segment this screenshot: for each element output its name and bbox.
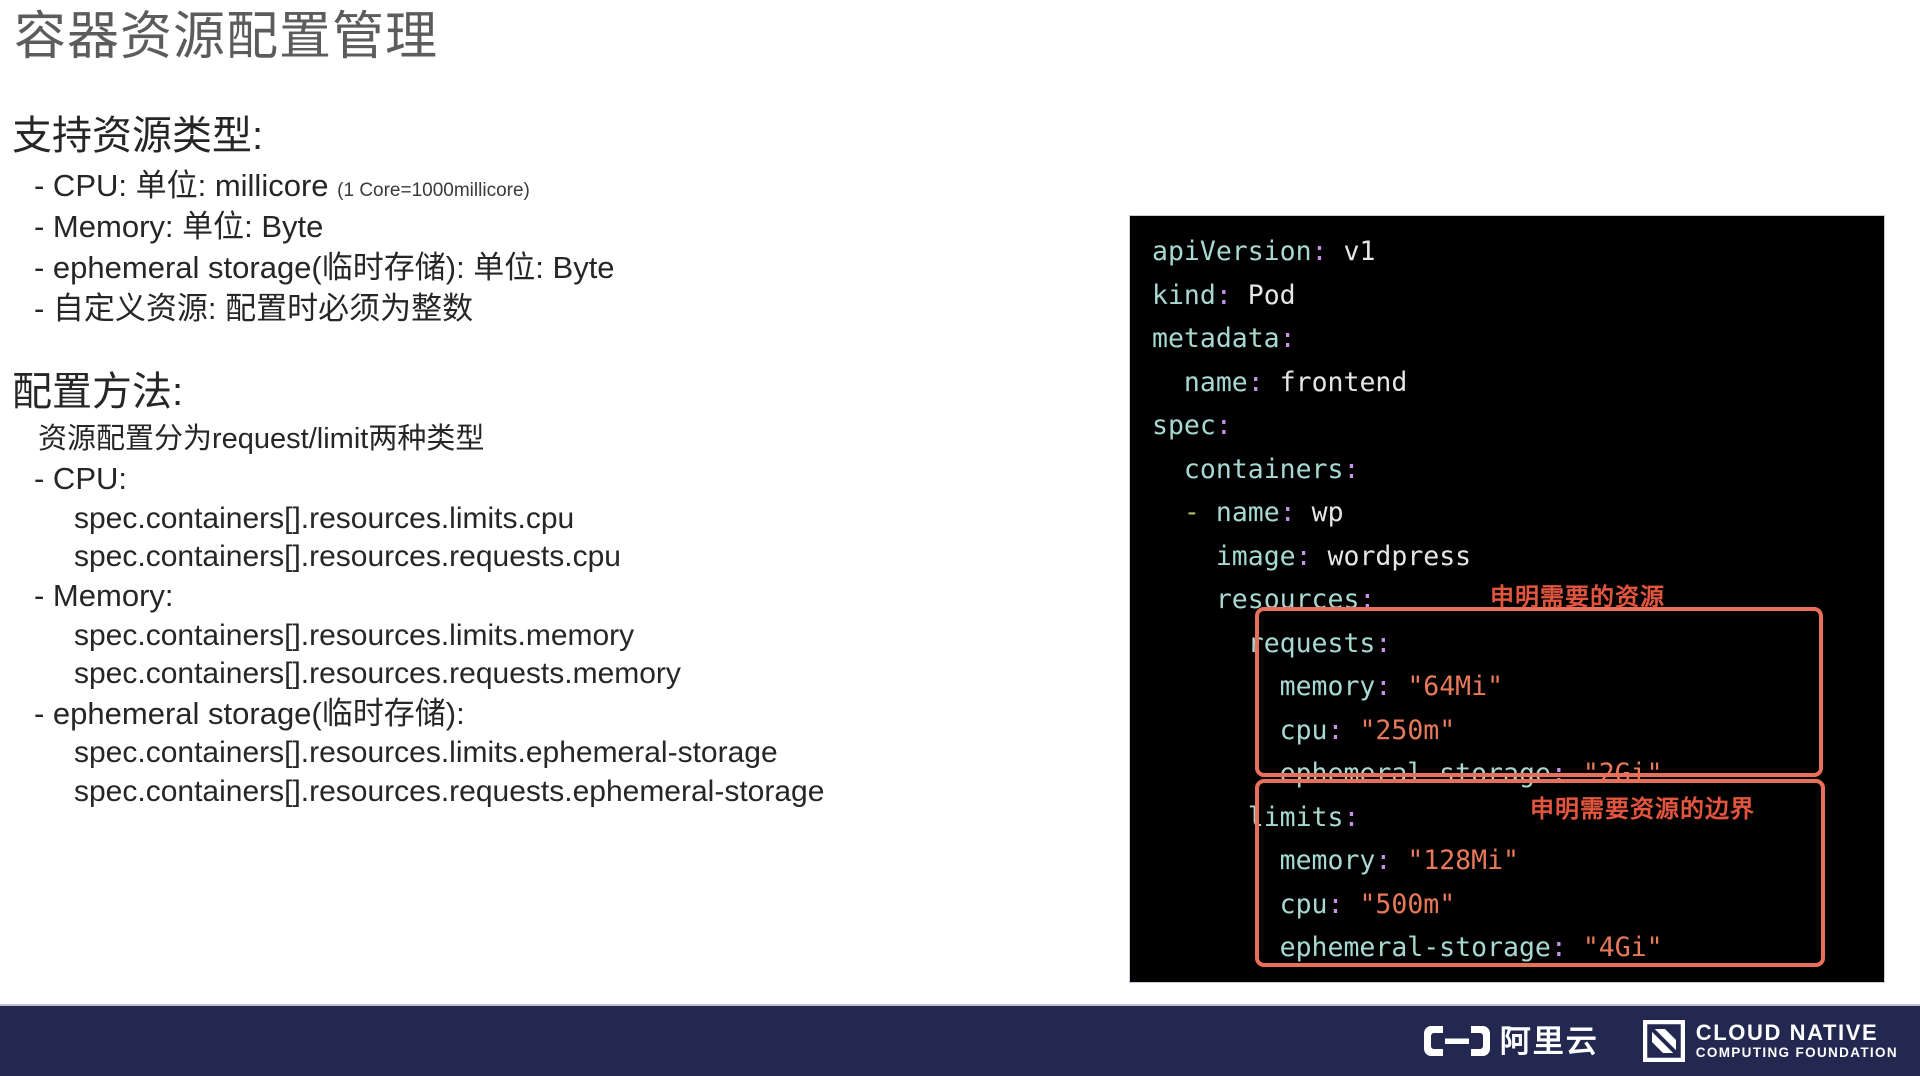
yaml-line: cpu: "500m" [1152, 883, 1663, 927]
bullet-ephemeral-unit-text: - ephemeral storage(临时存储): 单位: Byte [34, 250, 615, 285]
footer-logo-group: 阿里云 CLOUD NATIVE COMPUTING FOUNDATION [1423, 1006, 1898, 1076]
cncf-mark-icon [1643, 1020, 1685, 1062]
yaml-line: containers: [1152, 448, 1663, 492]
section-heading-config-method: 配置方法: [12, 368, 1102, 417]
yaml-line: requests: [1152, 622, 1663, 666]
yaml-line: memory: "128Mi" [1152, 839, 1663, 883]
section-heading-resource-types: 支持资源类型: [12, 112, 1102, 161]
config-path-cpu-limits: spec.containers[].resources.limits.cpu [12, 500, 1102, 538]
footer-bar: 阿里云 CLOUD NATIVE COMPUTING FOUNDATION [0, 1004, 1920, 1076]
yaml-line: name: frontend [1152, 361, 1663, 405]
yaml-line: memory: "64Mi" [1152, 665, 1663, 709]
yaml-line: image: wordpress [1152, 535, 1663, 579]
config-path-memory-requests: spec.containers[].resources.requests.mem… [12, 655, 1102, 693]
yaml-line: ephemeral-storage: "4Gi" [1152, 926, 1663, 970]
yaml-line: kind: Pod [1152, 274, 1663, 318]
alibaba-cloud-logo: 阿里云 [1423, 1024, 1599, 1058]
config-group-label-memory: - Memory: [12, 576, 1102, 617]
page-title: 容器资源配置管理 [14, 8, 438, 68]
config-path-cpu-requests: spec.containers[].resources.requests.cpu [12, 538, 1102, 576]
bullet-cpu-unit-note: (1 Core=1000millicore) [337, 180, 530, 201]
config-path-memory-limits: spec.containers[].resources.limits.memor… [12, 617, 1102, 655]
config-group-label-ephemeral: - ephemeral storage(临时存储): [12, 694, 1102, 735]
yaml-line: apiVersion: v1 [1152, 230, 1663, 274]
bullet-ephemeral-unit: - ephemeral storage(临时存储): 单位: Byte [12, 247, 1102, 288]
bullet-cpu-unit-text: - CPU: 单位: millicore [34, 168, 329, 203]
bullet-cpu-unit: - CPU: 单位: millicore (1 Core=1000millico… [12, 165, 1102, 206]
slide-body-left: 支持资源类型: - CPU: 单位: millicore (1 Core=100… [12, 112, 1102, 811]
config-group-label-cpu: - CPU: [12, 459, 1102, 500]
config-path-ephemeral-limits: spec.containers[].resources.limits.ephem… [12, 734, 1102, 772]
yaml-line: metadata: [1152, 317, 1663, 361]
cncf-logo: CLOUD NATIVE COMPUTING FOUNDATION [1643, 1020, 1898, 1062]
alibaba-cloud-mark-icon [1423, 1024, 1491, 1058]
cncf-line-2: COMPUTING FOUNDATION [1696, 1046, 1898, 1060]
annotation-requests: 申明需要的资源 [1490, 577, 1665, 612]
annotation-limits: 申明需要资源的边界 [1530, 789, 1755, 824]
cncf-line-1: CLOUD NATIVE [1696, 1022, 1898, 1044]
config-method-intro: 资源配置分为request/limit两种类型 [12, 420, 1102, 459]
cncf-wordmark: CLOUD NATIVE COMPUTING FOUNDATION [1696, 1022, 1898, 1060]
bullet-custom-resource: - 自定义资源: 配置时必须为整数 [12, 288, 1102, 329]
yaml-line: cpu: "250m" [1152, 709, 1663, 753]
yaml-line: - name: wp [1152, 491, 1663, 535]
bullet-memory-unit-text: - Memory: 单位: Byte [34, 209, 323, 244]
config-path-ephemeral-requests: spec.containers[].resources.requests.eph… [12, 773, 1102, 811]
yaml-line: spec: [1152, 404, 1663, 448]
bullet-custom-resource-text: - 自定义资源: 配置时必须为整数 [34, 291, 473, 326]
bullet-memory-unit: - Memory: 单位: Byte [12, 206, 1102, 247]
alibaba-cloud-label: 阿里云 [1500, 1026, 1599, 1057]
